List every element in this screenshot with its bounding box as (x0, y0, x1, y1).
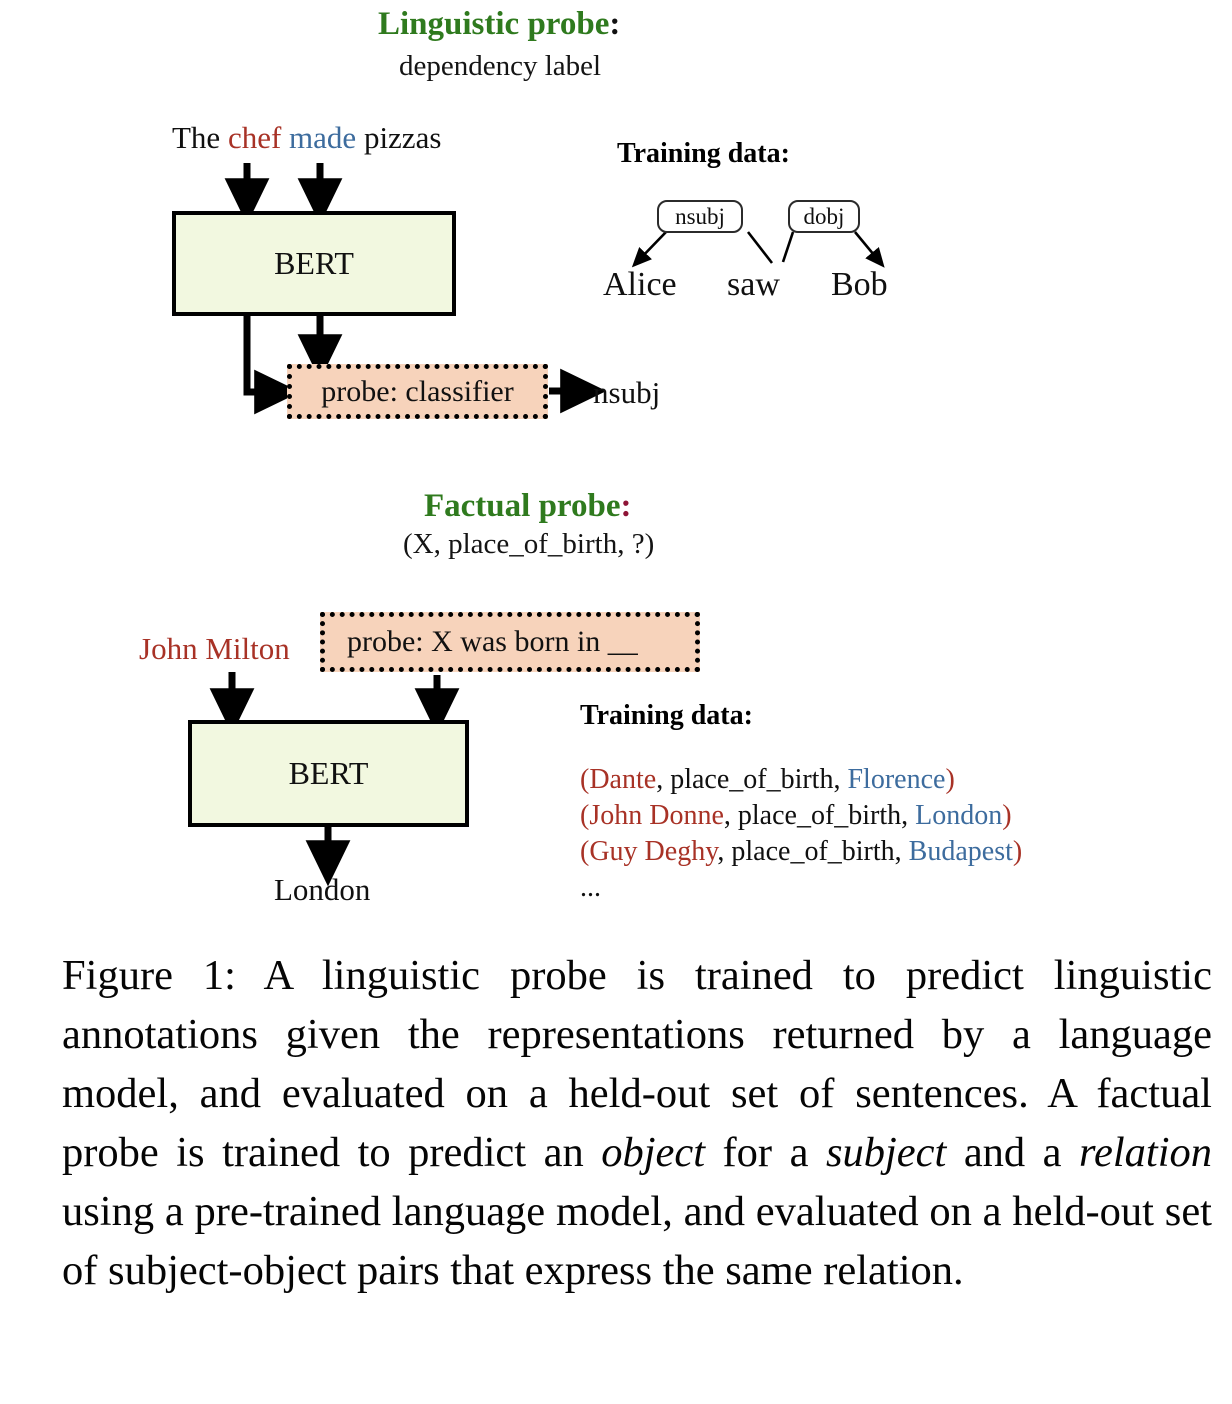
probe-template-box: probe: X was born in __ (320, 612, 700, 672)
training-data-heading-linguistic: Training data: (617, 138, 790, 170)
linguistic-probe-title-text: Linguistic probe (378, 6, 609, 42)
linguistic-probe-title-colon: : (609, 6, 620, 42)
caption-emphasis-relation: relation (1079, 1129, 1212, 1176)
linguistic-probe-subtitle: dependency label (399, 52, 601, 81)
sentence-word-made: made (289, 120, 356, 155)
bert-box-linguistic-label: BERT (274, 245, 354, 282)
triple-relation: place_of_birth (670, 764, 833, 795)
factual-subject-label: John Milton (139, 633, 290, 664)
probe-classifier-box: probe: classifier (287, 364, 548, 419)
dep-tag-dobj: dobj (788, 200, 860, 233)
caption-label: Figure 1: (62, 952, 236, 999)
training-data-heading-factual: Training data: (580, 700, 753, 732)
caption-part-3: and a (946, 1129, 1079, 1176)
triple-object: Budapest (909, 836, 1013, 867)
triple-relation: place_of_birth (738, 800, 901, 831)
training-data-triples: (Dante, place_of_birth, Florence) (John … (580, 762, 1022, 906)
factual-output-label: London (274, 872, 370, 908)
triple-separator: , (833, 764, 847, 795)
factual-probe-title-colon: : (620, 488, 631, 524)
triple-separator: , (724, 800, 738, 831)
triple-close-paren: ) (945, 764, 954, 795)
bert-box-factual: BERT (188, 720, 469, 827)
caption-emphasis-object: object (601, 1129, 705, 1176)
triple-open-paren: ( (580, 800, 589, 831)
dep-word-alice: Alice (603, 268, 677, 302)
dep-tag-nsubj-label: nsubj (675, 204, 725, 230)
triple-subject: John Donne (589, 800, 724, 831)
triple-close-paren: ) (1013, 836, 1022, 867)
triple-subject: Dante (589, 764, 656, 795)
caption-part-2: for a (705, 1129, 826, 1176)
triple-row: (Guy Deghy, place_of_birth, Budapest) (580, 834, 1022, 870)
figure-diagram: Linguistic probe: dependency label The c… (0, 0, 1232, 940)
triple-open-paren: ( (580, 764, 589, 795)
sentence-word-the: The (172, 120, 220, 155)
triple-subject: Guy Deghy (589, 836, 717, 867)
triple-separator: , (895, 836, 909, 867)
probe-classifier-label: probe: classifier (321, 375, 513, 409)
linguistic-output-label: nsubj (593, 375, 660, 411)
factual-probe-title: Factual probe: (424, 490, 631, 523)
sentence-word-chef: chef (228, 120, 281, 155)
linguistic-probe-title: Linguistic probe: (378, 8, 620, 41)
dep-word-bob: Bob (831, 268, 888, 302)
bert-box-factual-label: BERT (289, 755, 369, 792)
triple-object: Florence (847, 764, 945, 795)
factual-probe-title-text: Factual probe (424, 488, 620, 524)
bert-box-linguistic: BERT (172, 211, 456, 316)
linguistic-input-sentence: The chef made pizzas (172, 122, 441, 153)
dep-tag-dobj-label: dobj (804, 204, 845, 230)
caption-part-4: using a pre-trained language model, and … (62, 1188, 1212, 1294)
caption-emphasis-subject: subject (826, 1129, 946, 1176)
probe-template-label: probe: X was born in __ (347, 625, 638, 659)
triple-separator: , (717, 836, 731, 867)
factual-probe-subtitle: (X, place_of_birth, ?) (403, 530, 654, 559)
triple-separator: , (656, 764, 670, 795)
triple-open-paren: ( (580, 836, 589, 867)
triple-ellipsis: ... (580, 870, 1022, 906)
triple-close-paren: ) (1002, 800, 1011, 831)
triple-relation: place_of_birth (731, 836, 894, 867)
sentence-word-pizzas: pizzas (364, 120, 441, 155)
triple-row: (Dante, place_of_birth, Florence) (580, 762, 1022, 798)
dep-tag-nsubj: nsubj (657, 200, 743, 233)
triple-row: (John Donne, place_of_birth, London) (580, 798, 1022, 834)
triple-object: London (915, 800, 1002, 831)
triple-separator: , (901, 800, 915, 831)
figure-caption: Figure 1: A linguistic probe is trained … (62, 946, 1212, 1300)
dep-word-saw: saw (727, 268, 780, 302)
